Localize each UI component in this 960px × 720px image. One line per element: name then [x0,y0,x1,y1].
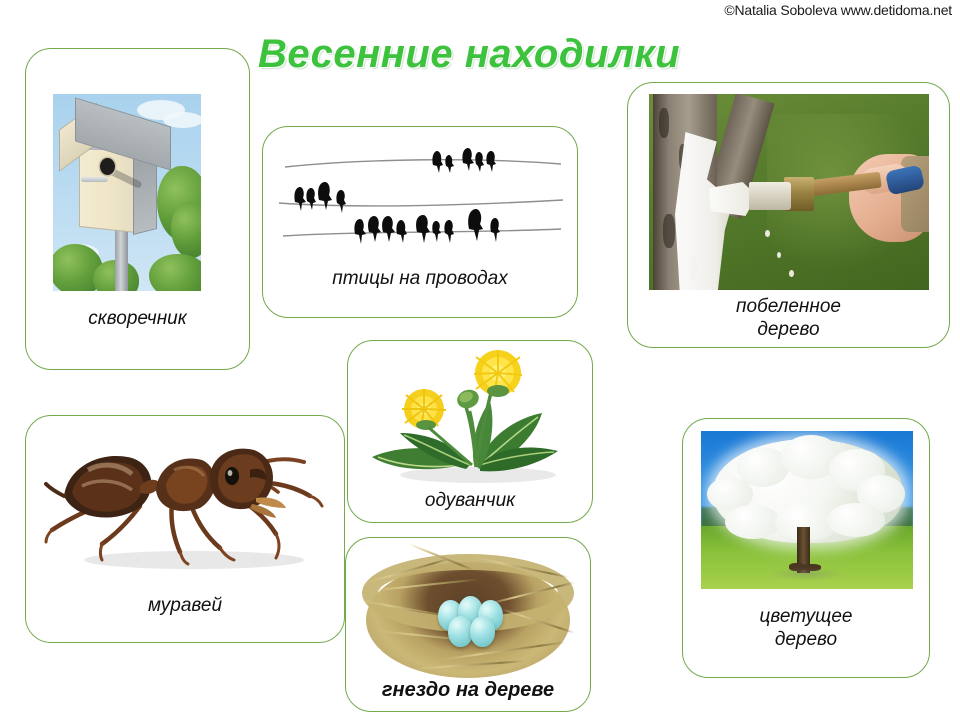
card-nest-in-tree[interactable]: гнездо на дереве [345,537,591,712]
card-whitewashed-tree[interactable]: побеленное дерево [627,82,950,348]
card-label-blossoming-tree: цветущее дерево [683,605,929,651]
card-label-birds-on-wires: птицы на проводах [263,267,577,290]
card-ant[interactable]: муравей [25,415,345,643]
nest-with-eggs-photo [360,544,576,684]
dandelion-illustration [366,347,578,487]
card-label-nest-in-tree: гнездо на дереве [346,678,590,702]
spring-findings-poster: ©Natalia Soboleva www.detidoma.net Весен… [0,0,960,720]
page-title: Весенние находилки [258,32,680,77]
card-label-whitewashed-tree: побеленное дерево [628,295,949,341]
card-birdhouse[interactable]: скворечник [25,48,250,370]
blossoming-tree-photo [701,431,913,589]
birds-on-wires-illustration [273,137,569,262]
copyright-credit: ©Natalia Soboleva www.detidoma.net [724,2,952,18]
card-label-dandelion: одуванчик [348,489,592,512]
card-label-ant: муравей [26,594,344,617]
card-birds-on-wires[interactable]: птицы на проводах [262,126,578,318]
whitewashed-tree-photo [649,94,929,290]
ant-photo [44,434,328,574]
card-dandelion[interactable]: одуванчик [347,340,593,523]
birdhouse-photo [53,94,201,291]
card-blossoming-tree[interactable]: цветущее дерево [682,418,930,678]
card-label-birdhouse: скворечник [26,307,249,330]
